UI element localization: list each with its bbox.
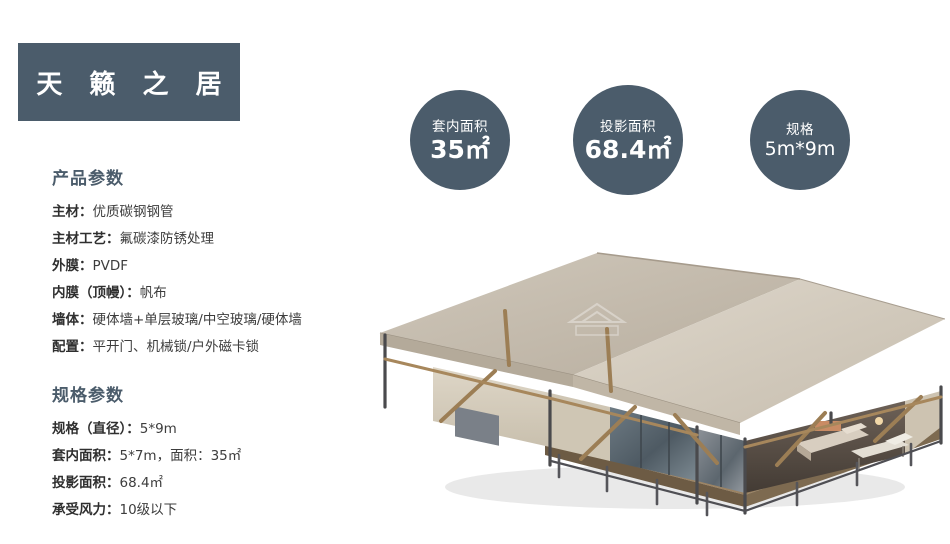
spec-row: 规格（直径）：5*9m — [52, 416, 382, 443]
spec-value: 帆布 — [140, 285, 167, 301]
spec-list-product: 主材：优质碳钢钢管 主材工艺：氟碳漆防锈处理 外膜：PVDF 内膜（顶幔）：帆布… — [52, 199, 382, 361]
watermark — [552, 300, 642, 340]
watermark-icon — [552, 300, 642, 340]
spec-row: 内膜（顶幔）：帆布 — [52, 280, 382, 307]
spec-row: 主材工艺：氟碳漆防锈处理 — [52, 226, 382, 253]
spec-row: 配置：平开门、机械锁/户外磁卡锁 — [52, 334, 382, 361]
spec-value: 68.4㎡ — [120, 475, 164, 491]
specification-panel: 产品参数 主材：优质碳钢钢管 主材工艺：氟碳漆防锈处理 外膜：PVDF 内膜（顶… — [52, 164, 382, 544]
spec-value: 5*9m — [140, 421, 177, 437]
spec-row: 墙体：硬体墙+单层玻璃/中空玻璃/硬体墙 — [52, 307, 382, 334]
section-heading-product: 产品参数 — [52, 164, 382, 189]
spec-row: 主材：优质碳钢钢管 — [52, 199, 382, 226]
spec-label: 内膜（顶幔）： — [52, 285, 140, 301]
spec-value: 10级以下 — [120, 502, 178, 518]
stat-circle-interior-area: 套内面积 35㎡ — [410, 90, 510, 190]
tent-house-render-svg — [345, 215, 945, 525]
spec-value: 优质碳钢钢管 — [93, 204, 174, 220]
spec-label: 主材工艺： — [52, 231, 120, 247]
spec-row: 投影面积：68.4㎡ — [52, 470, 382, 497]
spec-label: 配置： — [52, 339, 93, 355]
spec-row: 外膜：PVDF — [52, 253, 382, 280]
interior-lamp — [875, 417, 883, 425]
stat-circle-label: 规格 — [786, 122, 814, 138]
page-title-block: 天 籁 之 居 — [18, 43, 240, 121]
spec-label: 套内面积： — [52, 448, 120, 464]
spec-label: 外膜： — [52, 258, 93, 274]
spec-label: 承受风力： — [52, 502, 120, 518]
stat-circle-dimensions: 规格 5m*9m — [750, 90, 850, 190]
stat-circle-label: 投影面积 — [600, 119, 656, 135]
spec-label: 规格（直径）： — [52, 421, 140, 437]
stat-circle-value: 68.4㎡ — [585, 137, 672, 162]
stat-circle-label: 套内面积 — [432, 119, 488, 135]
stat-circle-value: 5m*9m — [765, 140, 836, 159]
spec-value: 5*7m，面积：35㎡ — [120, 448, 242, 464]
stat-circle-projected-area: 投影面积 68.4㎡ — [573, 85, 683, 195]
spec-row: 承受风力：10级以下 — [52, 497, 382, 524]
spec-value: 氟碳漆防锈处理 — [120, 231, 215, 247]
spec-value: 平开门、机械锁/户外磁卡锁 — [93, 339, 260, 355]
spec-label: 主材： — [52, 204, 93, 220]
section-heading-specs: 规格参数 — [52, 381, 382, 406]
spec-row: 套内面积：5*7m，面积：35㎡ — [52, 443, 382, 470]
spec-label: 投影面积： — [52, 475, 120, 491]
stat-circle-value: 35㎡ — [430, 137, 490, 162]
page-title: 天 籁 之 居 — [27, 64, 230, 101]
spec-value: PVDF — [93, 258, 129, 274]
spec-value: 硬体墙+单层玻璃/中空玻璃/硬体墙 — [93, 312, 302, 328]
tent-house-render — [345, 215, 945, 525]
spec-label: 墙体： — [52, 312, 93, 328]
spec-list-specs: 规格（直径）：5*9m 套内面积：5*7m，面积：35㎡ 投影面积：68.4㎡ … — [52, 416, 382, 524]
